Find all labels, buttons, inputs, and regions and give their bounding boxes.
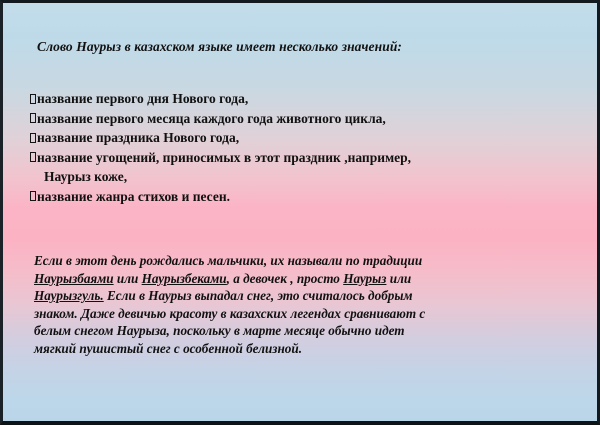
list-item-label: название угощений, приносимых в этот пра…	[37, 150, 411, 165]
list-item: название угощений, приносимых в этот пра…	[30, 148, 570, 168]
list-item: название первого месяца каждого года жив…	[30, 109, 570, 129]
bullet-box-icon	[30, 191, 36, 201]
list-item-label: название праздника Нового года,	[37, 130, 239, 145]
paragraph-text: Если в этот день рождались мальчики, их …	[34, 253, 422, 268]
paragraph-line: белым снегом Наурыза, поскольку в марте …	[34, 322, 580, 340]
paragraph-text: белым снегом Наурыза, поскольку в марте …	[34, 323, 405, 338]
paragraph-text: или	[114, 271, 142, 286]
bullet-box-icon	[30, 152, 36, 162]
list-item: название жанра стихов и песен.	[30, 187, 570, 207]
list-item: название праздника Нового года,	[30, 128, 570, 148]
underlined-term: Наурызгуль.	[34, 288, 104, 303]
paragraph-text: , а девочек , просто	[227, 271, 344, 286]
body-paragraph: Если в этот день рождались мальчики, их …	[34, 252, 580, 358]
bullet-box-icon	[30, 113, 36, 123]
paragraph-line: Наурызгуль. Если в Наурыз выпадал снег, …	[34, 287, 580, 305]
list-item-continuation: Наурыз коже,	[30, 167, 570, 187]
underlined-term: Наурызбаями	[34, 271, 114, 286]
bullet-box-icon	[30, 133, 36, 143]
list-item-label: название жанра стихов и песен.	[37, 189, 230, 204]
presentation-slide: Слово Наурыз в казахском языке имеет нес…	[0, 0, 600, 425]
paragraph-line: Наурызбаями или Наурызбеками, а девочек …	[34, 270, 580, 288]
bullet-box-icon	[30, 94, 36, 104]
underlined-term: Наурыз	[343, 271, 386, 286]
paragraph-text: Если в Наурыз выпадал снег, это считалос…	[104, 288, 413, 303]
meanings-bullet-list: название первого дня Нового года, назван…	[30, 89, 570, 206]
list-item-label: название первого дня Нового года,	[37, 91, 248, 106]
paragraph-text: или	[386, 271, 411, 286]
list-item: название первого дня Нового года,	[30, 89, 570, 109]
list-item-label: название первого месяца каждого года жив…	[37, 111, 386, 126]
slide-heading: Слово Наурыз в казахском языке имеет нес…	[37, 39, 402, 55]
paragraph-line: Если в этот день рождались мальчики, их …	[34, 252, 580, 270]
paragraph-text: знаком. Даже девичью красоту в казахских…	[34, 306, 425, 321]
paragraph-line: мягкий пушистый снег с особенной белизно…	[34, 340, 580, 358]
paragraph-line: знаком. Даже девичью красоту в казахских…	[34, 305, 580, 323]
underlined-term: Наурызбеками	[142, 271, 227, 286]
paragraph-text: мягкий пушистый снег с особенной белизно…	[34, 341, 302, 356]
slide-content: Слово Наурыз в казахском языке имеет нес…	[3, 3, 597, 421]
